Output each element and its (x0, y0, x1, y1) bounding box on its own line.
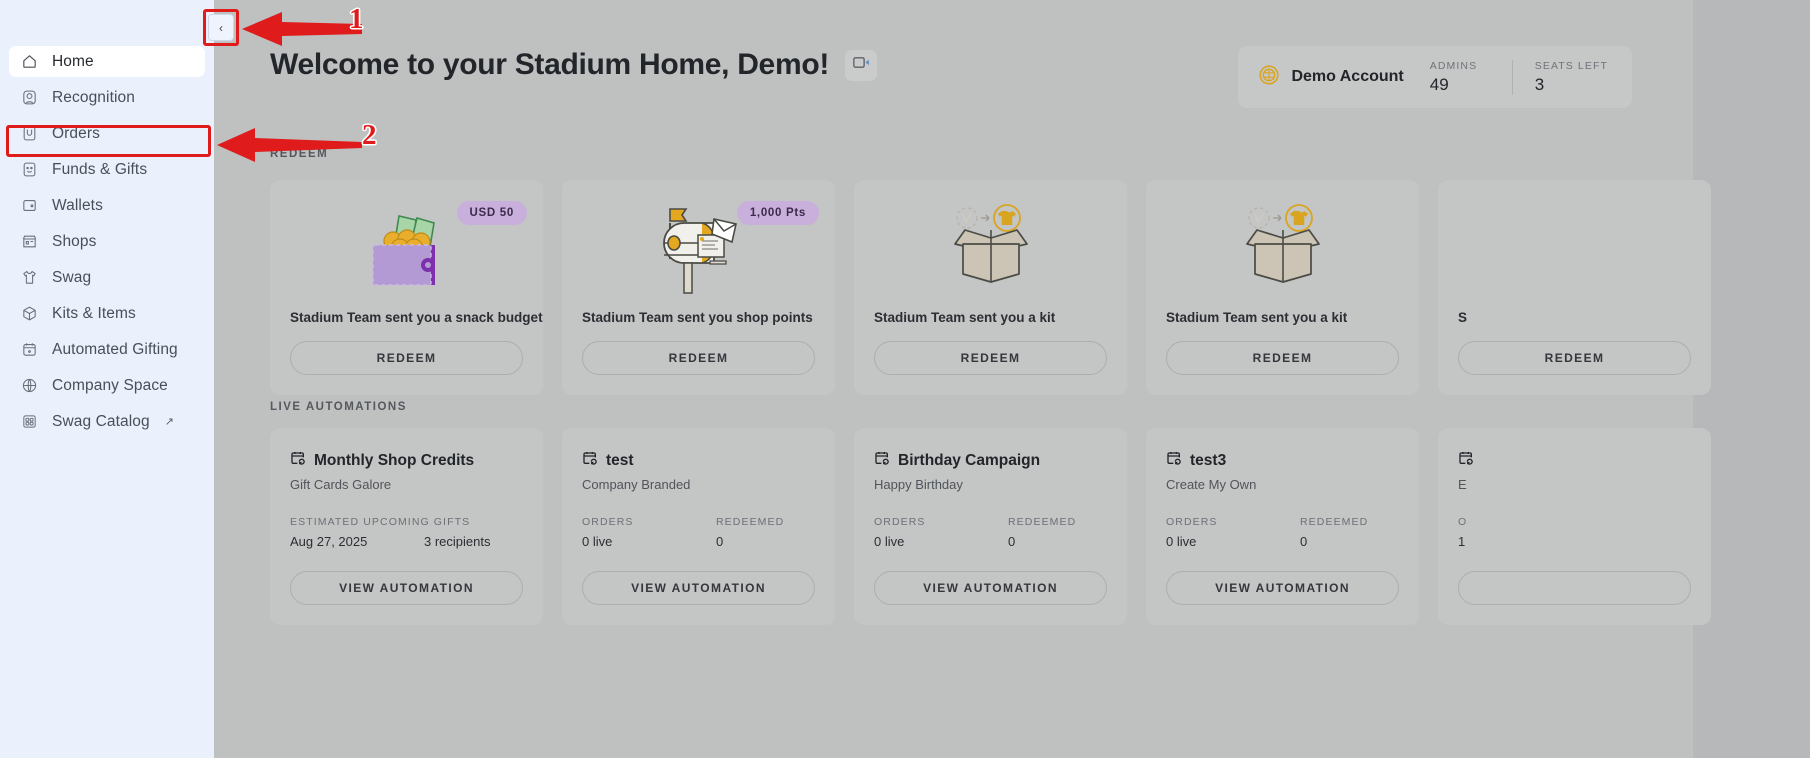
funds-gifts-icon (21, 161, 38, 178)
annotation-number-2: 2 (362, 119, 377, 152)
redeem-card-title: Stadium Team sent you a snack budget (290, 310, 523, 325)
automation-card[interactable]: test3 Create My Own ORDERS 0 live REDEEM… (1146, 428, 1419, 625)
view-automation-button[interactable]: VIEW AUTOMATION (1166, 571, 1399, 605)
redeem-card-title: S (1458, 310, 1691, 325)
sidebar-collapse-button[interactable]: ‹ (208, 14, 234, 41)
redeem-card-title: Stadium Team sent you a kit (1166, 310, 1399, 325)
metric-label: ORDERS (1166, 516, 1300, 528)
wallet-cash-illustration: USD 50 (290, 194, 523, 302)
automation-metrics: ORDERS 0 live REDEEMED 0 (582, 516, 815, 549)
metric-value: 0 live (1166, 534, 1300, 549)
automation-metric-1: ORDERS 0 live (582, 516, 716, 549)
sidebar-item-label: Company Space (52, 377, 168, 395)
automation-metric-2: REDEEMED 0 (1300, 516, 1368, 549)
automation-subtitle: Company Branded (582, 477, 815, 492)
automations-card-row: Monthly Shop Credits Gift Cards Galore E… (270, 428, 1711, 625)
sidebar-item-label: Funds & Gifts (52, 161, 147, 179)
metric-label: ORDERS (582, 516, 716, 528)
sidebar-item-funds-gifts[interactable]: Funds & Gifts (9, 154, 205, 185)
stat-seats-left: SEATS LEFT 3 (1512, 60, 1608, 95)
sidebar-item-swag[interactable]: Swag (9, 262, 205, 293)
metric-label: REDEEMED (716, 516, 784, 528)
redeem-card[interactable]: USD 50 Stadium Team sent you a snack bud… (270, 180, 543, 395)
account-identity: Demo Account (1258, 64, 1403, 91)
page-header: Welcome to your Stadium Home, Demo! (270, 46, 1632, 112)
stat-value: 3 (1535, 75, 1608, 95)
redeem-button[interactable]: REDEEM (290, 341, 523, 375)
app-root: Home Recognition Orders (0, 0, 1810, 758)
sidebar: Home Recognition Orders (0, 0, 214, 758)
redeem-badge: 1,000 Pts (737, 201, 819, 225)
view-automation-button[interactable]: VIEW AUTOMATION (290, 571, 523, 605)
page-title: Welcome to your Stadium Home, Demo! (270, 48, 829, 82)
video-camera-icon (853, 56, 870, 74)
automation-title: Birthday Campaign (898, 452, 1040, 470)
automation-title: test (606, 452, 634, 470)
automation-subtitle: E (1458, 477, 1691, 492)
automation-metric-1: ESTIMATED UPCOMING GIFTS Aug 27, 2025 (290, 516, 424, 549)
automation-card-header: Monthly Shop Credits (290, 450, 523, 471)
sidebar-item-label: Swag Catalog (52, 413, 150, 431)
metric-value: Aug 27, 2025 (290, 534, 424, 549)
redeem-button[interactable]: REDEEM (1166, 341, 1399, 375)
sidebar-item-label: Home (52, 53, 94, 71)
redeem-card-row: USD 50 Stadium Team sent you a snack bud… (270, 180, 1711, 395)
metric-value: 0 live (582, 534, 716, 549)
calendar-repeat-icon (874, 450, 890, 471)
automation-metrics: ORDERS 0 live REDEEMED 0 (1166, 516, 1399, 549)
redeem-button[interactable]: REDEEM (582, 341, 815, 375)
calendar-repeat-icon (582, 450, 598, 471)
automation-metric-2: 3 recipients (424, 516, 490, 549)
sidebar-item-label: Kits & Items (52, 305, 136, 323)
automation-subtitle: Create My Own (1166, 477, 1399, 492)
redeem-badge: USD 50 (457, 201, 527, 225)
automation-metric-2: REDEEMED 0 (716, 516, 784, 549)
automation-card[interactable]: E O 1 (1438, 428, 1711, 625)
sidebar-item-label: Wallets (52, 197, 103, 215)
metric-value: 0 (1008, 534, 1076, 549)
automation-metrics: ORDERS 0 live REDEEMED 0 (874, 516, 1107, 549)
metric-value: 0 live (874, 534, 1008, 549)
recognition-icon (21, 89, 38, 106)
metric-value: 3 recipients (424, 534, 490, 549)
shop-icon (21, 233, 38, 250)
sidebar-item-home[interactable]: Home (9, 46, 205, 77)
view-automation-button[interactable]: VIEW AUTOMATION (874, 571, 1107, 605)
metric-label: REDEEMED (1300, 516, 1368, 528)
stat-label: SEATS LEFT (1535, 60, 1608, 72)
sidebar-item-recognition[interactable]: Recognition (9, 82, 205, 113)
metric-label: ESTIMATED UPCOMING GIFTS (290, 516, 424, 528)
stat-admins: ADMINS 49 (1430, 60, 1486, 95)
catalog-icon (21, 413, 38, 430)
calendar-repeat-icon (290, 450, 306, 471)
redeem-card-title: Stadium Team sent you a kit (874, 310, 1107, 325)
redeem-section-label: REDEEM (270, 148, 328, 160)
view-automation-button[interactable]: VIEW AUTOMATION (582, 571, 815, 605)
sidebar-item-label: Automated Gifting (52, 341, 178, 359)
main-content-area: Welcome to your Stadium Home, Demo! (214, 0, 1810, 758)
sidebar-item-label: Swag (52, 269, 91, 287)
automation-metric-1: ORDERS 0 live (1166, 516, 1300, 549)
metric-label: ORDERS (874, 516, 1008, 528)
metric-value: 0 (1300, 534, 1368, 549)
automation-subtitle: Gift Cards Galore (290, 477, 523, 492)
open-box-tshirt-illustration (1458, 194, 1691, 302)
view-automation-button[interactable] (1458, 571, 1691, 605)
calendar-repeat-icon (1458, 450, 1474, 471)
title-group: Welcome to your Stadium Home, Demo! (270, 48, 877, 82)
box-icon (21, 305, 38, 322)
automation-card-header: test3 (1166, 450, 1399, 471)
redeem-button[interactable]: REDEEM (874, 341, 1107, 375)
automation-card-header (1458, 450, 1691, 471)
sidebar-item-company-space[interactable]: Company Space (9, 370, 205, 401)
automation-metric-2: REDEEMED 0 (1008, 516, 1076, 549)
automation-card[interactable]: test Company Branded ORDERS 0 live REDEE… (562, 428, 835, 625)
mailbox-illustration: 1,000 Pts (582, 194, 815, 302)
automation-card[interactable]: Monthly Shop Credits Gift Cards Galore E… (270, 428, 543, 625)
automation-metrics: O 1 (1458, 516, 1691, 549)
open-box-tshirt-illustration (874, 194, 1107, 302)
open-box-tshirt-illustration (1166, 194, 1399, 302)
metric-label: O (1458, 516, 1592, 528)
sidebar-item-label: Orders (52, 125, 100, 143)
sidebar-item-automated-gifting[interactable]: Automated Gifting (9, 334, 205, 365)
redeem-button[interactable]: REDEEM (1458, 341, 1691, 375)
automations-section-label: LIVE AUTOMATIONS (270, 401, 407, 413)
account-name: Demo Account (1291, 68, 1403, 86)
sidebar-item-shops[interactable]: Shops (9, 226, 205, 257)
calendar-repeat-icon (1166, 450, 1182, 471)
video-tour-button[interactable] (845, 50, 877, 81)
wallet-icon (21, 197, 38, 214)
calendar-repeat-icon (21, 341, 38, 358)
automation-metric-1: O 1 (1458, 516, 1592, 549)
automation-card-header: Birthday Campaign (874, 450, 1107, 471)
automation-title: test3 (1190, 452, 1226, 470)
automation-metrics: ESTIMATED UPCOMING GIFTS Aug 27, 2025 3 … (290, 516, 523, 549)
sidebar-item-wallets[interactable]: Wallets (9, 190, 205, 221)
automation-metric-1: ORDERS 0 live (874, 516, 1008, 549)
metric-value: 0 (716, 534, 784, 549)
stat-label: ADMINS (1430, 60, 1486, 72)
automation-title: Monthly Shop Credits (314, 452, 474, 470)
automation-subtitle: Happy Birthday (874, 477, 1107, 492)
tshirt-icon (21, 269, 38, 286)
annotation-number-1: 1 (349, 3, 364, 36)
metric-label: REDEEMED (1008, 516, 1076, 528)
sidebar-item-orders[interactable]: Orders (9, 118, 205, 149)
redeem-card[interactable]: 1,000 Pts Stadium Team sent you shop poi… (562, 180, 835, 395)
external-link-icon: ↗ (165, 415, 174, 428)
account-coin-icon (1258, 64, 1280, 91)
redeem-card[interactable]: Stadium Team sent you a kit REDEEM (854, 180, 1127, 395)
redeem-card[interactable]: S REDEEM (1438, 180, 1711, 395)
metric-value: 1 (1458, 534, 1592, 549)
sidebar-item-swag-catalog[interactable]: Swag Catalog ↗ (9, 406, 205, 437)
stat-value: 49 (1430, 75, 1486, 95)
redeem-card-title: Stadium Team sent you shop points (582, 310, 815, 325)
automation-card[interactable]: Birthday Campaign Happy Birthday ORDERS … (854, 428, 1127, 625)
sidebar-item-label: Shops (52, 233, 96, 251)
home-icon (21, 53, 38, 70)
chevron-left-icon: ‹ (219, 21, 223, 35)
orders-icon (21, 125, 38, 142)
automation-card-header: test (582, 450, 815, 471)
account-summary-card[interactable]: Demo Account ADMINS 49 SEATS LEFT 3 (1238, 46, 1632, 108)
sidebar-item-kits-items[interactable]: Kits & Items (9, 298, 205, 329)
sidebar-item-label: Recognition (52, 89, 135, 107)
redeem-card[interactable]: Stadium Team sent you a kit REDEEM (1146, 180, 1419, 395)
globe-icon (21, 377, 38, 394)
